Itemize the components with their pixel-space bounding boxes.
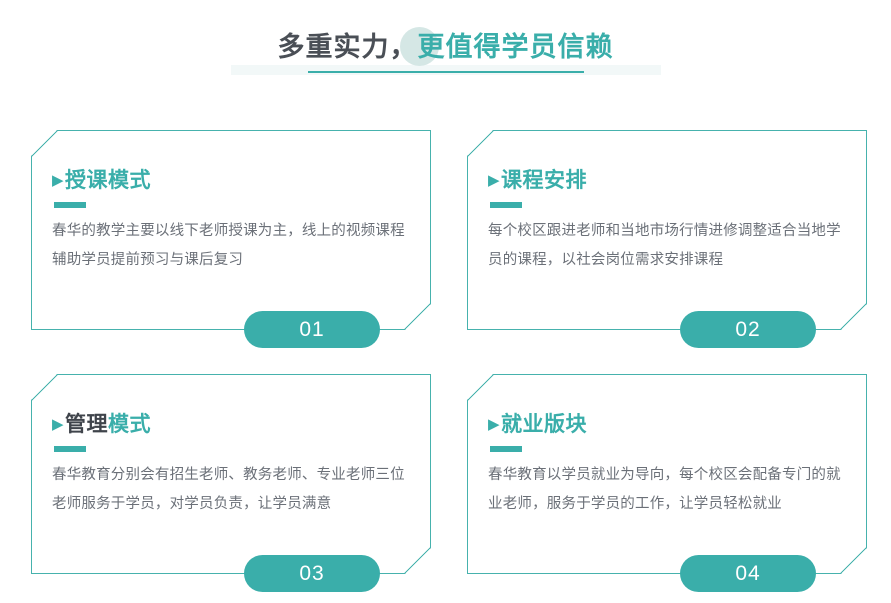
feature-card-heading: ▶课程安排: [488, 167, 842, 195]
feature-card-heading: ▶就业版块: [488, 411, 842, 439]
page-title-text: 多重实力，更值得学员信赖: [278, 27, 614, 67]
feature-card-body: ▶就业版块 春华教育以学员就业为导向，每个校区会配备专门的就业老师，服务于学员的…: [468, 375, 866, 573]
feature-card-text: 春华教育分别会有招生老师、教务老师、专业老师三位老师服务于学员，对学员负责，让学…: [52, 461, 406, 519]
feature-card-body: ▶授课模式 春华的教学主要以线下老师授课为主，线上的视频课程辅助学员提前预习与课…: [32, 131, 430, 329]
feature-card-number-badge[interactable]: 04: [680, 555, 816, 592]
feature-card-heading-teal: 课程安排: [501, 169, 587, 192]
feature-card-body: ▶课程安排 每个校区跟进老师和当地市场行情进修调整适合当地学员的课程，以社会岗位…: [468, 131, 866, 329]
feature-card-heading-teal: 模式: [108, 413, 151, 436]
feature-card-heading: ▶授课模式: [52, 167, 406, 195]
triangle-bullet-icon: ▶: [52, 416, 64, 433]
feature-card[interactable]: ▶管理模式 春华教育分别会有招生老师、教务老师、专业老师三位老师服务于学员，对学…: [31, 374, 431, 574]
feature-card-grid: ▶授课模式 春华的教学主要以线下老师授课为主，线上的视频课程辅助学员提前预习与课…: [31, 130, 867, 574]
page-title-part-teal: 更值得学员信赖: [418, 32, 614, 62]
heading-accent-bar: [54, 446, 86, 452]
feature-card-body: ▶管理模式 春华教育分别会有招生老师、教务老师、专业老师三位老师服务于学员，对学…: [32, 375, 430, 573]
heading-accent-bar: [490, 446, 522, 452]
feature-card[interactable]: ▶课程安排 每个校区跟进老师和当地市场行情进修调整适合当地学员的课程，以社会岗位…: [467, 130, 867, 330]
heading-accent-bar: [490, 202, 522, 208]
triangle-bullet-icon: ▶: [488, 172, 500, 189]
feature-card[interactable]: ▶就业版块 春华教育以学员就业为导向，每个校区会配备专门的就业老师，服务于学员的…: [467, 374, 867, 574]
feature-card-text: 春华的教学主要以线下老师授课为主，线上的视频课程辅助学员提前预习与课后复习: [52, 217, 406, 275]
title-underline: [308, 71, 584, 73]
heading-accent-bar: [54, 202, 86, 208]
feature-card-heading-dark: 管理: [65, 413, 108, 436]
page-title: 多重实力，更值得学员信赖: [272, 27, 620, 67]
feature-card-heading-teal: 就业版块: [501, 413, 587, 436]
triangle-bullet-icon: ▶: [488, 416, 500, 433]
feature-card-number-badge[interactable]: 01: [244, 311, 380, 348]
feature-card-number-badge[interactable]: 03: [244, 555, 380, 592]
feature-card[interactable]: ▶授课模式 春华的教学主要以线下老师授课为主，线上的视频课程辅助学员提前预习与课…: [31, 130, 431, 330]
feature-card-text: 春华教育以学员就业为导向，每个校区会配备专门的就业老师，服务于学员的工作，让学员…: [488, 461, 842, 519]
page-header: 多重实力，更值得学员信赖: [0, 18, 891, 76]
feature-card-text: 每个校区跟进老师和当地市场行情进修调整适合当地学员的课程，以社会岗位需求安排课程: [488, 217, 842, 275]
feature-card-heading-teal: 授课模式: [65, 169, 151, 192]
page-title-part-dark: 多重实力，: [278, 32, 418, 62]
feature-card-number-badge[interactable]: 02: [680, 311, 816, 348]
feature-card-heading: ▶管理模式: [52, 411, 406, 439]
triangle-bullet-icon: ▶: [52, 172, 64, 189]
